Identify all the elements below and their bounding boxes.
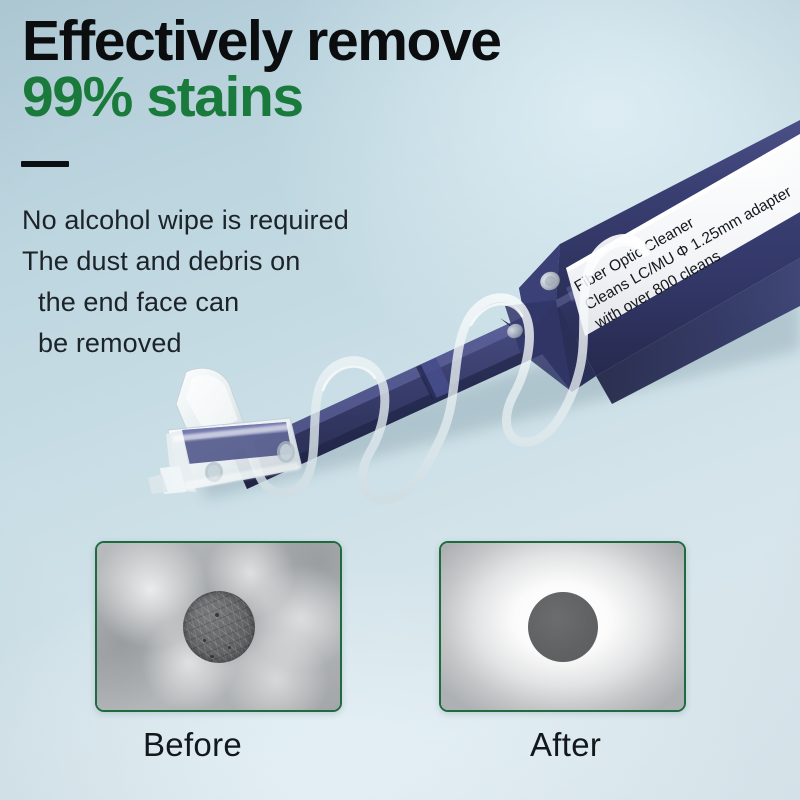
body-line-3: the end face can bbox=[38, 282, 470, 323]
body-line-4: be removed bbox=[38, 323, 470, 364]
before-caption: Before bbox=[143, 725, 242, 765]
after-panel bbox=[439, 541, 686, 712]
after-fiber-circle bbox=[528, 592, 598, 662]
after-caption: After bbox=[530, 725, 601, 765]
before-fiber-circle bbox=[183, 591, 255, 663]
promo-image: Fiber Optic Cleaner Cleans LC/MU Φ 1.25m… bbox=[0, 0, 800, 800]
after-endface-image bbox=[441, 543, 684, 710]
before-panel bbox=[95, 541, 342, 712]
body-line-2: The dust and debris on bbox=[22, 241, 470, 282]
body-line-1: No alcohol wipe is required bbox=[22, 200, 470, 241]
headline-line-2: 99% stains bbox=[22, 70, 682, 124]
before-endface-image bbox=[97, 543, 340, 710]
divider-rule bbox=[21, 161, 69, 167]
headline-line-1: Effectively remove bbox=[22, 14, 682, 68]
body-copy: No alcohol wipe is required The dust and… bbox=[0, 200, 470, 364]
